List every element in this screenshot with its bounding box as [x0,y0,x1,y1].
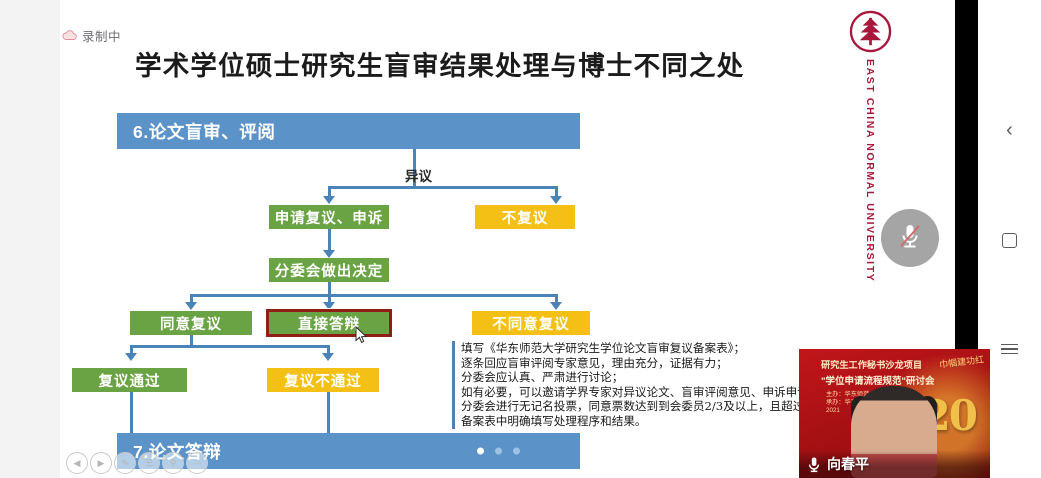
left-gutter [0,0,60,478]
page-title: 学术学位硕士研究生盲审结果处理与博士不同之处 [135,44,744,83]
microphone-icon [807,456,821,473]
microphone-muted-button[interactable] [881,209,939,267]
backdrop-title-line1: 研究生工作秘书沙龙项目 [821,357,922,371]
participant-video-tile[interactable]: 研究生工作秘书沙龙项目 巾帼建功红 "学位申请流程规范"研讨会 主办：华东师范大… [799,349,990,478]
ecnu-crest-icon [849,10,892,53]
flow-branch-label: 异议 [405,165,432,185]
arrow-left-2 [185,302,197,310]
flow-box-apply-review-label: 申请复议、申诉 [275,207,384,228]
backdrop-sub3: 2021 [826,407,840,414]
participant-name: 向春平 [827,454,869,474]
zoom-tool-icon[interactable]: ⚲ [162,452,184,474]
slide-nav-controls: ◀ ▶ ✎ ☰ ⚲ ⋯ [66,452,208,474]
arrow-right-1 [550,196,562,204]
flow-box-agree-review[interactable]: 同意复议 [130,311,252,335]
ecnu-logo-text: EAST CHINA NORMAL UNIVERSITY [864,59,876,282]
note-tool-icon[interactable]: ☰ [138,452,160,474]
flow-box-apply-review[interactable]: 申请复议、申诉 [269,205,389,229]
flow-box-no-review[interactable]: 不复议 [475,205,575,229]
flow-box-direct-defense-label: 直接答辩 [298,313,360,334]
connector-passed-to-defense [130,392,133,433]
arrow-left-3 [125,353,137,361]
arrow-to-decision [323,250,335,258]
recording-indicator: 录制中 [62,26,121,45]
flow-box-agree-review-label: 同意复议 [160,313,222,334]
connector-split-3 [130,345,330,348]
participant-name-bar: 向春平 [799,450,990,478]
flow-box-review-passed[interactable]: 复议通过 [72,368,187,392]
flow-box-disagree-review[interactable]: 不同意复议 [472,311,590,335]
slide-pagination [477,448,520,455]
pagination-dot[interactable] [513,448,520,455]
backdrop-title-line2: "学位申请流程规范"研讨会 [821,373,935,387]
pen-tool-icon[interactable]: ✎ [114,452,136,474]
mouse-cursor [355,326,368,344]
connector-failed-to-defense [327,392,330,433]
flow-box-review-failed-label: 复议不通过 [284,370,362,391]
flow-box-review-failed[interactable]: 复议不通过 [267,368,379,392]
section-bar-paper-review: 6.论文盲审、评阅 [117,113,580,149]
connector-to-decision [328,229,331,252]
section-bar-top-label: 6.论文盲审、评阅 [133,119,276,144]
recording-label: 录制中 [82,26,121,45]
square-glyph [1002,233,1017,248]
flow-box-committee-decision-label: 分委会做出决定 [275,260,384,281]
prev-slide-icon[interactable]: ◀ [66,452,88,474]
flow-box-direct-defense[interactable]: 直接答辩 [266,309,392,337]
square-home-icon[interactable] [978,227,1041,253]
flow-box-no-review-label: 不复议 [502,207,549,228]
flow-box-review-passed-label: 复议通过 [99,370,161,391]
flow-box-committee-decision[interactable]: 分委会做出决定 [269,258,389,282]
hamburger-glyph [1001,341,1018,358]
arrow-right-2 [550,302,562,310]
connector-split-2 [190,294,558,297]
arrow-left-1 [323,196,335,204]
next-slide-icon[interactable]: ▶ [90,452,112,474]
arrow-right-3 [322,353,334,361]
screen-root: 录制中 学术学位硕士研究生盲审结果处理与博士不同之处 6.论文盲审、评阅 异议 … [0,0,1041,478]
flow-box-disagree-review-label: 不同意复议 [492,313,570,334]
more-tool-icon[interactable]: ⋯ [186,452,208,474]
pagination-dot[interactable] [495,448,502,455]
connector-split-1 [328,186,558,189]
microphone-muted-icon [895,220,925,257]
cloud-recording-icon [62,30,77,41]
chevron-left-icon[interactable]: ‹ [978,117,1041,143]
pagination-dot[interactable] [477,448,484,455]
